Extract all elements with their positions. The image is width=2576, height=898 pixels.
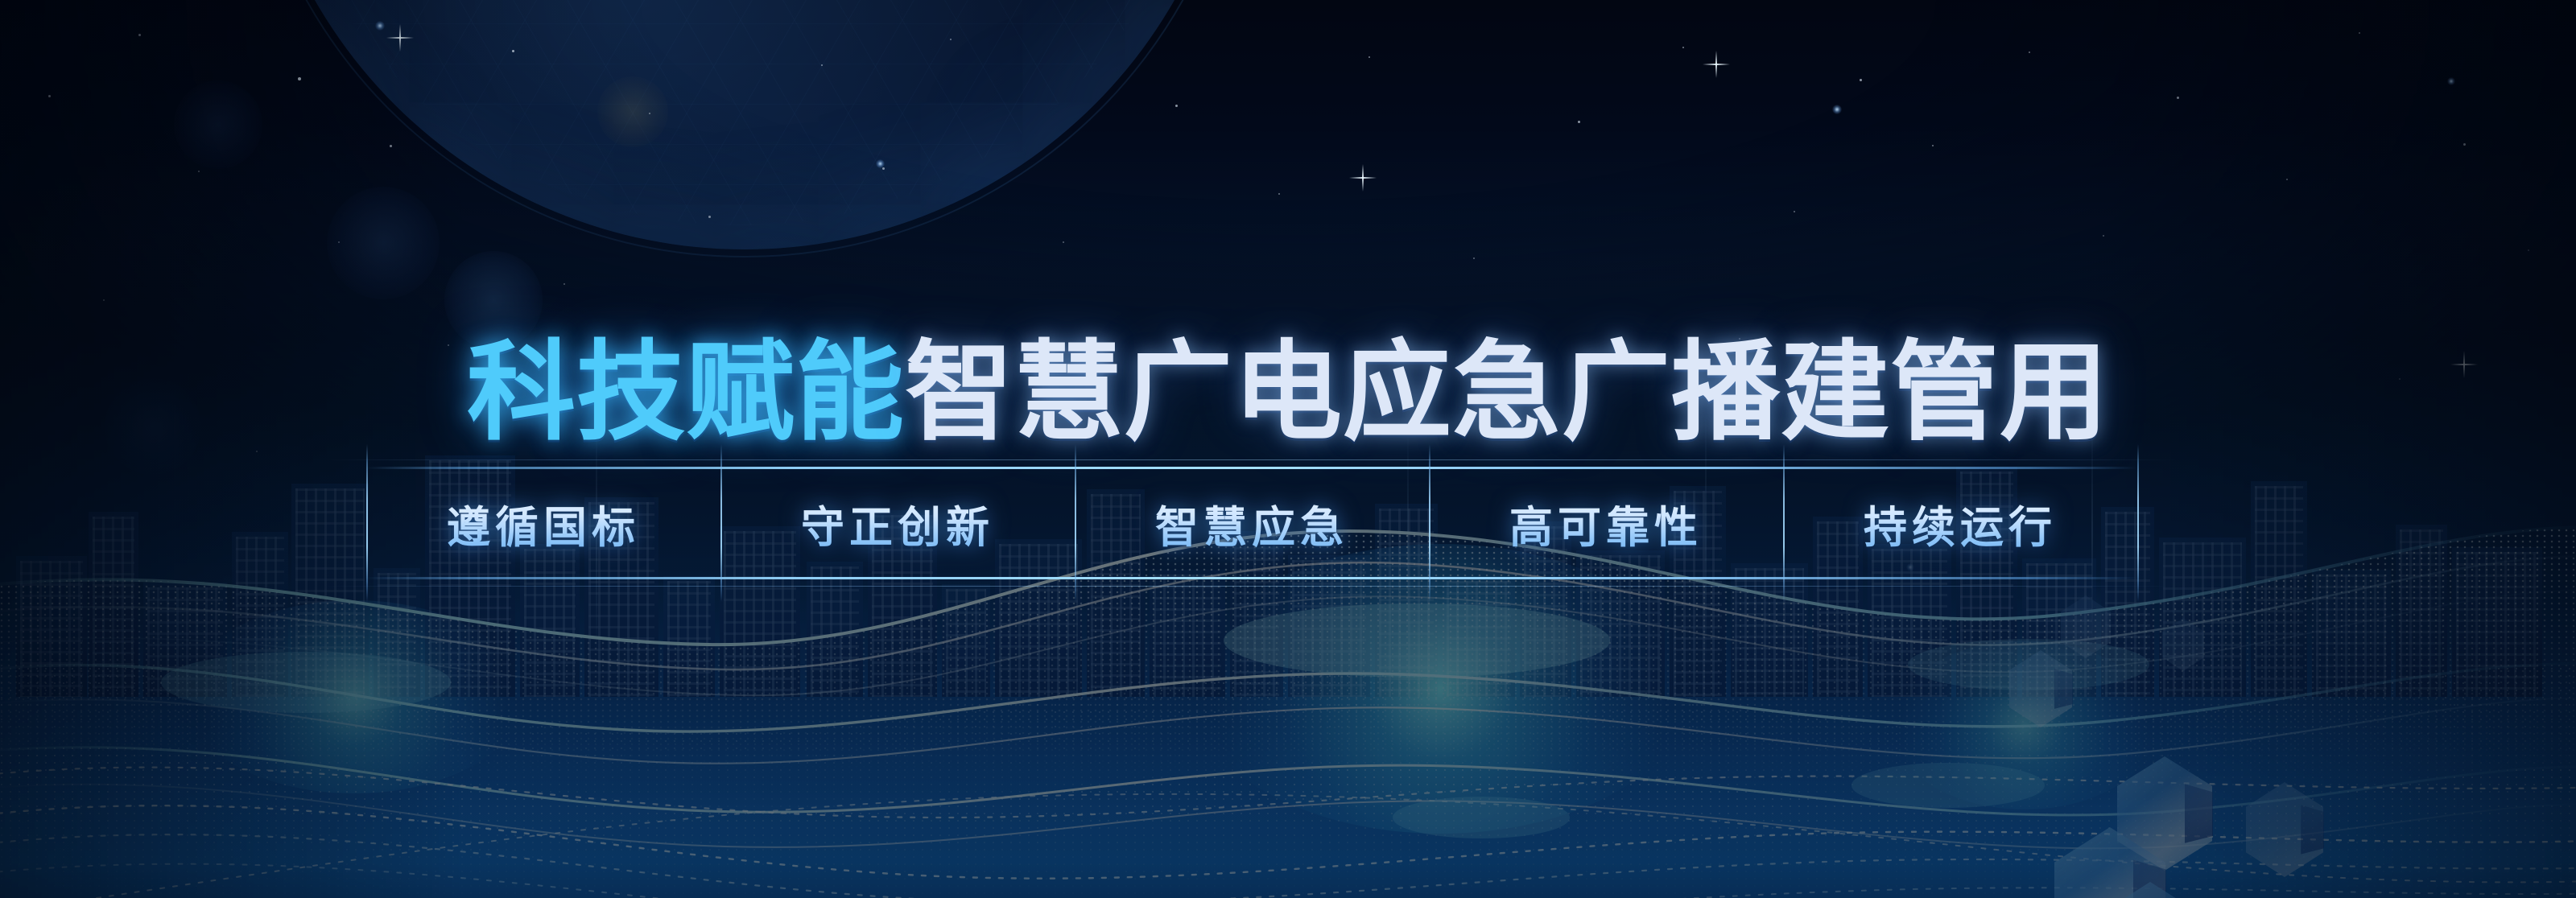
feature-label-0: 遵循国标: [447, 492, 640, 555]
feature-label-2: 智慧应急: [1155, 492, 1348, 555]
feature-item-2: 智慧应急: [1075, 467, 1429, 579]
feature-bar-soft-line-top: [326, 459, 2178, 460]
feature-list: 遵循国标 守正创新 智慧应急 高可靠性 持续运行: [366, 467, 2137, 579]
feature-bar: 遵循国标 守正创新 智慧应急 高可靠性 持续运行: [366, 467, 2137, 579]
title-rest: 智慧广电应急广播建管用: [905, 338, 2109, 447]
feature-label-1: 守正创新: [801, 492, 994, 555]
feature-item-4: 持续运行: [1783, 467, 2137, 579]
title-highlight: 科技赋能: [467, 338, 905, 447]
feature-divider-5: [2137, 444, 2139, 602]
banner-content: 科技赋能智慧广电应急广播建管用 遵循国标 守正创新 智慧应急: [0, 0, 2576, 898]
feature-item-1: 守正创新: [720, 467, 1075, 579]
page-title: 科技赋能智慧广电应急广播建管用: [0, 338, 2576, 447]
feature-item-0: 遵循国标: [366, 467, 720, 579]
feature-bar-soft-line-bottom: [326, 586, 2178, 587]
feature-item-3: 高可靠性: [1429, 467, 1783, 579]
promotional-banner: 科技赋能智慧广电应急广播建管用 遵循国标 守正创新 智慧应急: [0, 0, 2576, 898]
feature-label-3: 高可靠性: [1509, 492, 1703, 555]
feature-label-4: 持续运行: [1864, 492, 2057, 555]
